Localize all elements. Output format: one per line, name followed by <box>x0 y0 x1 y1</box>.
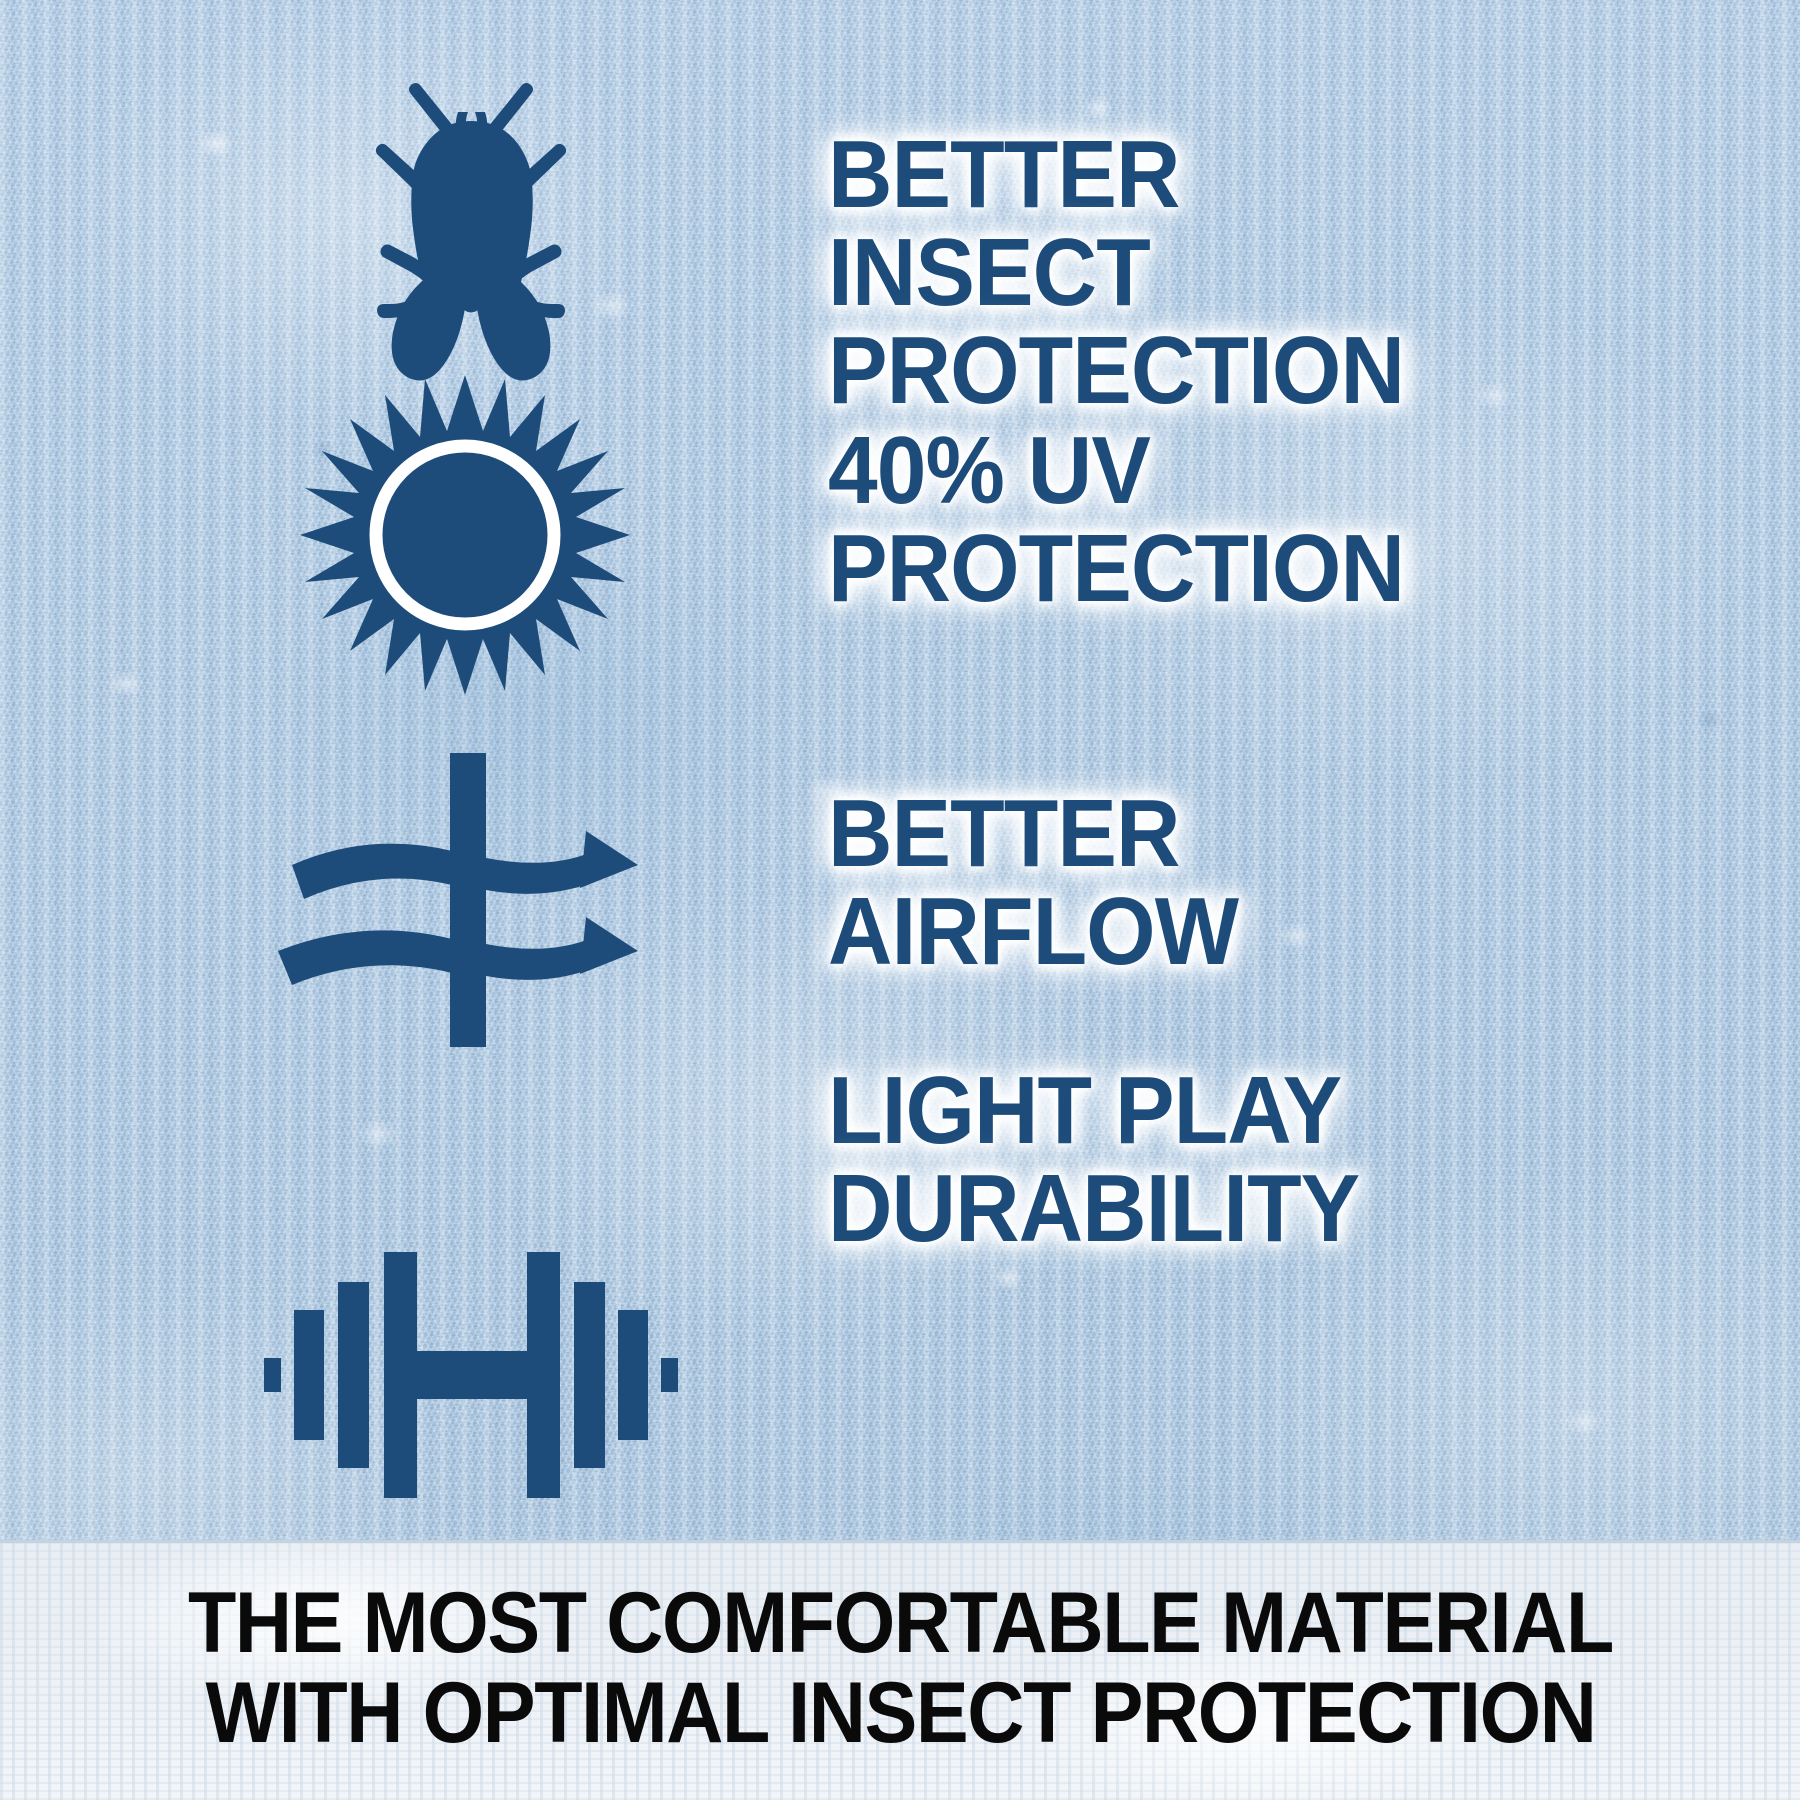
sun-icon <box>290 375 640 695</box>
feature-label-durability: LIGHT PLAY DURABILITY <box>828 1062 1359 1258</box>
feature-label-airflow-wrap: BETTER AIRFLOW <box>828 785 1269 981</box>
footer-line-1: THE MOST COMFORTABLE MATERIAL <box>187 1579 1612 1668</box>
dumbbell-icon <box>250 1230 690 1520</box>
feature-label-uv-wrap: 40% UV PROTECTION <box>828 422 1447 618</box>
feature-label-uv: 40% UV PROTECTION <box>828 422 1404 618</box>
footer-line-2: WITH OPTIMAL INSECT PROTECTION <box>205 1669 1595 1758</box>
airflow-icon <box>270 745 660 1055</box>
product-feature-graphic: BETTER INSECT PROTECTION 40% UV PROTECTI… <box>0 0 1800 1800</box>
fly-icon <box>300 60 630 360</box>
feature-label-durability-wrap: LIGHT PLAY DURABILITY <box>828 1062 1399 1258</box>
feature-label-insect: BETTER INSECT PROTECTION <box>828 126 1404 420</box>
footer-banner: THE MOST COMFORTABLE MATERIAL WITH OPTIM… <box>0 1540 1800 1800</box>
feature-label-insect-wrap: BETTER INSECT PROTECTION <box>828 126 1447 420</box>
feature-label-airflow: BETTER AIRFLOW <box>828 785 1238 981</box>
feature-list: BETTER INSECT PROTECTION 40% UV PROTECTI… <box>0 0 1800 1540</box>
